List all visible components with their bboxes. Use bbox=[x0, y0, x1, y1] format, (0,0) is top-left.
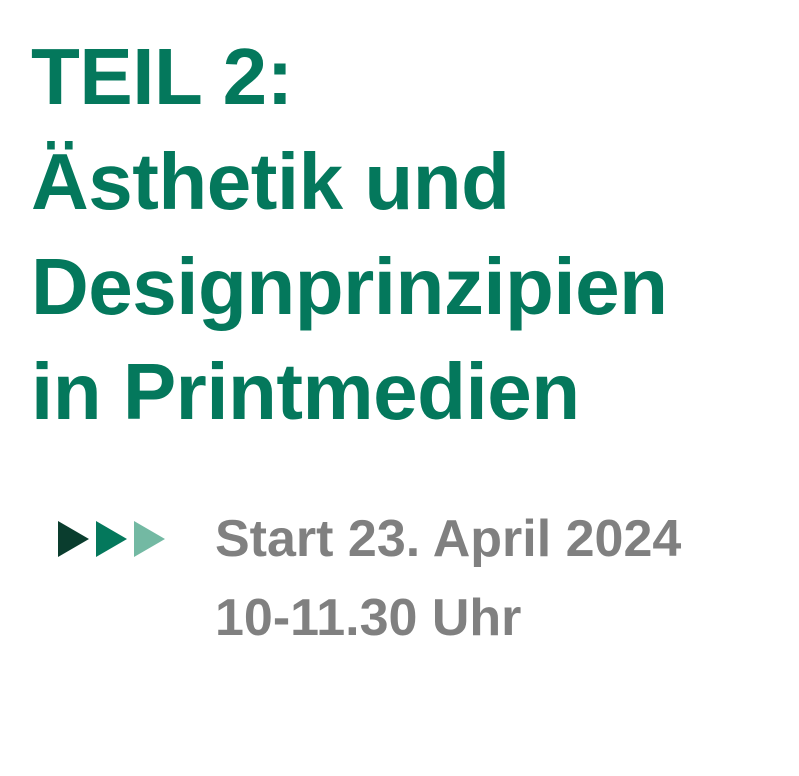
title-line-2: Ästhetik und bbox=[31, 129, 791, 234]
start-time-text: 10-11.30 Uhr bbox=[215, 588, 521, 648]
arrow-bullet-group bbox=[31, 521, 215, 557]
announcement-slide: TEIL 2: Ästhetik und Designprinzipien in… bbox=[0, 0, 799, 776]
start-time-row: 10-11.30 Uhr bbox=[31, 575, 791, 661]
triangle-right-dark-icon bbox=[58, 521, 89, 557]
title-line-1: TEIL 2: bbox=[31, 24, 791, 129]
start-date-text: Start 23. April 2024 bbox=[215, 509, 681, 569]
triangle-right-light-icon bbox=[134, 521, 165, 557]
title-line-4: in Printmedien bbox=[31, 339, 791, 444]
event-details: Start 23. April 2024 10-11.30 Uhr bbox=[31, 503, 791, 661]
title-line-3: Designprinzipien bbox=[31, 234, 791, 339]
page-title: TEIL 2: Ästhetik und Designprinzipien in… bbox=[31, 24, 791, 444]
triangle-right-medium-icon bbox=[96, 521, 127, 557]
start-date-row: Start 23. April 2024 bbox=[31, 503, 791, 575]
